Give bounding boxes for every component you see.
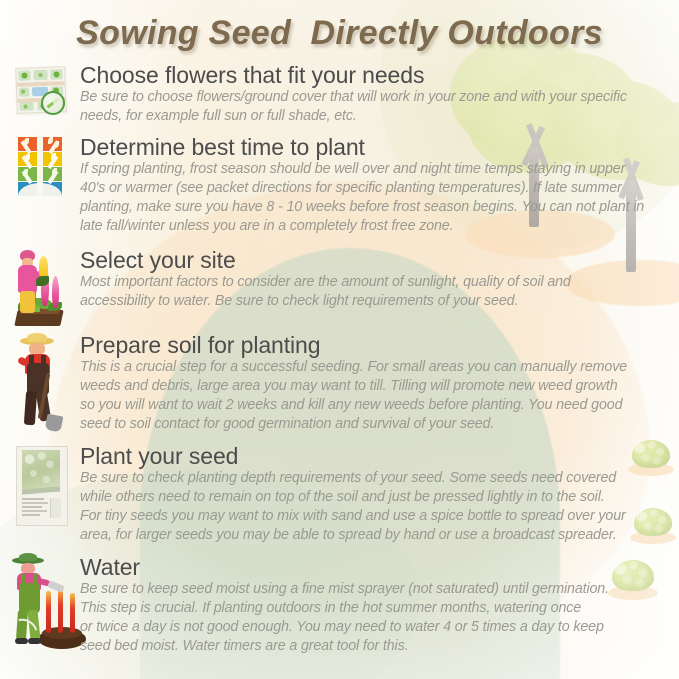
step-text: Select your site Most important factors … — [80, 248, 667, 311]
overall-strap — [41, 355, 46, 367]
flower-spike — [52, 276, 59, 308]
infographic-poster: Sowing Seed Directly Outdoors — [0, 0, 679, 679]
step-text: Choose flowers that fit your needs Be su… — [80, 63, 667, 126]
pot — [36, 276, 49, 286]
step-body: Be sure to keep seed moist using a fine … — [80, 580, 667, 655]
figure-overalls — [19, 583, 40, 613]
step-body: This is a crucial step for a successful … — [80, 358, 667, 433]
overall-strap — [29, 355, 34, 367]
step-body: Be sure to choose flowers/ground cover t… — [80, 88, 667, 125]
step-heading: Select your site — [80, 248, 667, 272]
step-body: If spring planting, frost season should … — [80, 160, 667, 235]
figure-legs — [20, 291, 35, 313]
steps-list: Choose flowers that fit your needs Be su… — [0, 0, 679, 679]
step-heading: Determine best time to plant — [80, 135, 667, 159]
flower-spike — [46, 591, 51, 633]
four-seasons-tree-icon — [12, 135, 72, 201]
shovel-blade — [45, 414, 64, 433]
overall-strap — [33, 574, 37, 585]
figure-leg — [24, 391, 37, 426]
step-text: Determine best time to plant If spring p… — [80, 135, 667, 235]
step-text: Prepare soil for planting This is a cruc… — [80, 333, 667, 433]
flower-spike — [58, 587, 63, 633]
step-heading: Water — [80, 555, 667, 579]
yellow-flowers — [39, 256, 48, 278]
step-body: Be sure to check planting depth requirem… — [80, 469, 667, 544]
garden-plan-compass-icon — [12, 63, 72, 125]
step-heading: Choose flowers that fit your needs — [80, 63, 667, 87]
seed-packet-icon — [14, 444, 76, 534]
overall-strap — [21, 574, 25, 585]
step-heading: Plant your seed — [80, 444, 667, 468]
step-body: Most important factors to consider are t… — [80, 273, 667, 310]
flower-spike — [70, 593, 75, 633]
hat-crown — [19, 553, 37, 561]
figure-torso — [18, 265, 37, 293]
gardener-with-planter-icon — [8, 248, 70, 330]
step-text: Water Be sure to keep seed moist using a… — [80, 555, 667, 655]
straw-hat-crown — [27, 333, 47, 342]
compass-icon — [41, 91, 65, 115]
packet-seed-texture — [22, 450, 60, 492]
page-title: Sowing Seed Directly Outdoors — [0, 14, 679, 53]
gardener-watering-icon — [8, 555, 88, 655]
step-heading: Prepare soil for planting — [80, 333, 667, 357]
step-text: Plant your seed Be sure to check plantin… — [80, 444, 667, 544]
gardener-with-shovel-icon — [14, 333, 76, 433]
